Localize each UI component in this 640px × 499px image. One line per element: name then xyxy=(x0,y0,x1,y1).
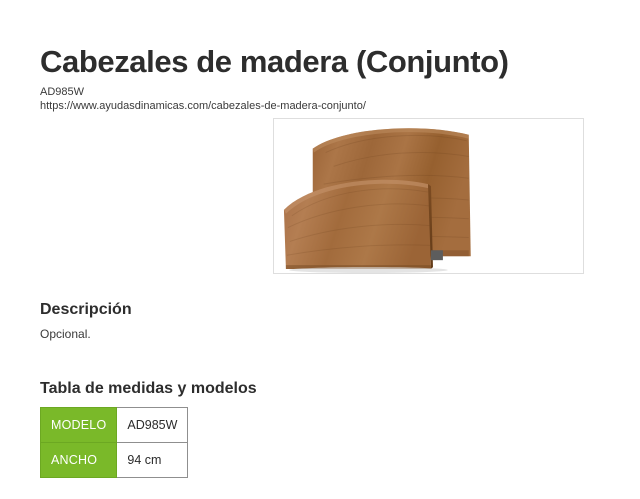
product-image-illustration xyxy=(274,119,583,273)
product-image xyxy=(273,118,584,274)
product-url: https://www.ayudasdinamicas.com/cabezale… xyxy=(40,99,600,113)
description-text: Opcional. xyxy=(40,326,91,342)
page-title: Cabezales de madera (Conjunto) xyxy=(40,44,600,80)
table-row: MODELO AD985W xyxy=(41,408,188,443)
measurements-heading: Tabla de medidas y modelos xyxy=(40,379,257,399)
measurements-table: MODELO AD985W ANCHO 94 cm xyxy=(40,407,188,478)
support-foot xyxy=(431,250,443,260)
table-cell-value: 94 cm xyxy=(117,443,188,478)
product-header: Cabezales de madera (Conjunto) AD985W ht… xyxy=(40,44,600,113)
description-heading: Descripción xyxy=(40,300,132,320)
table-cell-value: AD985W xyxy=(117,408,188,443)
table-cell-key: MODELO xyxy=(41,408,117,443)
table-cell-key: ANCHO xyxy=(41,443,117,478)
table-row: ANCHO 94 cm xyxy=(41,443,188,478)
product-code: AD985W xyxy=(40,85,600,99)
document-page: Cabezales de madera (Conjunto) AD985W ht… xyxy=(0,0,640,499)
